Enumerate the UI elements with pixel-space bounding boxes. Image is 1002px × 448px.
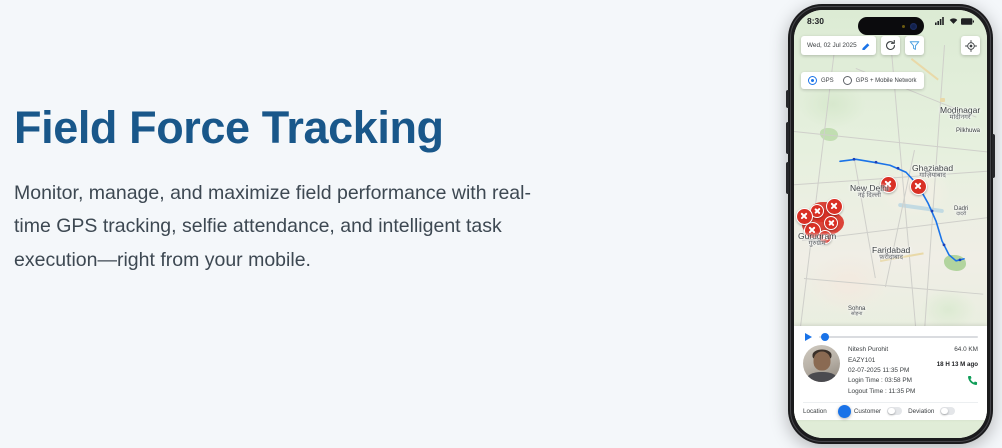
map-label-faridabad: Faridabad फ़रीदाबाद <box>872 246 910 262</box>
date-picker[interactable]: Wed, 02 Jul 2025 <box>801 36 876 55</box>
radio-option-gps[interactable]: GPS <box>808 76 834 85</box>
map-road <box>800 50 835 328</box>
toggle-label-customer: Customer <box>854 408 881 415</box>
radio-gps-mobile-icon[interactable] <box>843 76 852 85</box>
refresh-button[interactable] <box>881 36 900 55</box>
radio-option-gps-mobile-network[interactable]: GPS + Mobile Network <box>843 76 917 85</box>
distance-value: 64.0 KM <box>954 346 978 353</box>
front-camera-icon <box>910 23 917 30</box>
phone-mute-switch <box>786 90 789 108</box>
pencil-icon[interactable] <box>862 42 870 50</box>
battery-icon <box>961 18 974 25</box>
toggle-deviation-thumb <box>941 408 948 415</box>
avatar-body <box>807 372 837 382</box>
signal-bars-icon <box>935 17 945 25</box>
toggle-location-thumb <box>838 405 851 418</box>
refresh-icon <box>885 40 896 51</box>
play-icon[interactable] <box>805 333 812 341</box>
map-layer-toggles: Location Customer Deviation <box>803 402 978 420</box>
hero-description: Monitor, manage, and maximize field perf… <box>14 177 562 278</box>
map-label-dadri: Dadri दादरी <box>954 206 968 218</box>
map-highway-shield <box>940 98 945 102</box>
sensor-dot-icon <box>902 25 905 28</box>
status-bar-icons <box>935 17 974 25</box>
phone-volume-up-button <box>786 122 789 154</box>
map-green-area <box>944 255 966 271</box>
page-title: Field Force Tracking <box>14 104 574 153</box>
map-marker[interactable] <box>796 208 813 225</box>
toggle-location[interactable] <box>833 407 848 415</box>
playback-slider-handle[interactable] <box>821 333 829 341</box>
map-marker[interactable] <box>910 178 927 195</box>
map-label-sohna: Sohna सोहना <box>848 306 865 318</box>
phone-volume-down-button <box>786 162 789 194</box>
last-seen-value: 18 H 13 M ago <box>937 361 978 368</box>
map-label-new-delhi: New Delhi नई दिल्ली <box>850 184 889 200</box>
phone-icon <box>967 375 978 386</box>
toggle-label-location: Location <box>803 408 827 415</box>
phone-frame: New Delhi नई दिल्ली Ghaziabad गाज़ियाबाद… <box>788 4 993 444</box>
employee-login-time: Login Time : 03:58 PM <box>848 376 929 386</box>
map-marker[interactable] <box>824 216 838 230</box>
toggle-customer[interactable] <box>887 407 902 415</box>
employee-timestamp: 02-07-2025 11:35 PM <box>848 366 929 376</box>
map-label-pilkhuwa: Pilkhuwa <box>956 128 980 134</box>
map-label-ghaziabad: Ghaziabad गाज़ियाबाद <box>912 164 953 180</box>
wifi-icon <box>949 17 958 25</box>
status-bar-time: 8:30 <box>807 16 824 26</box>
hero-copy: Field Force Tracking Monitor, manage, an… <box>14 104 574 277</box>
date-value: Wed, 02 Jul 2025 <box>807 42 857 49</box>
employee-code: EAZY101 <box>848 356 929 366</box>
toggle-customer-thumb <box>888 408 895 415</box>
map-road <box>804 278 983 295</box>
gps-mode-selector[interactable]: GPS GPS + Mobile Network <box>801 72 924 89</box>
filter-icon <box>909 40 920 51</box>
playback-slider[interactable] <box>819 336 978 338</box>
employee-text-block: Nitesh Purohit EAZY101 02-07-2025 11:35 … <box>848 345 929 397</box>
filter-button[interactable] <box>905 36 924 55</box>
map-label-gurugram: Gurugram गुरुग्राम <box>798 232 836 248</box>
map-top-controls: Wed, 02 Jul 2025 <box>801 36 980 55</box>
employee-logout-time: Logout Time : 11:35 PM <box>848 387 929 397</box>
my-location-button[interactable] <box>961 36 980 55</box>
map-marker[interactable] <box>826 198 843 215</box>
avatar[interactable] <box>803 345 840 382</box>
phone-power-button <box>992 134 995 178</box>
call-button[interactable] <box>967 373 978 391</box>
avatar-face <box>813 351 830 370</box>
phone-screen: New Delhi नई दिल्ली Ghaziabad गाज़ियाबाद… <box>794 10 987 438</box>
employee-name: Nitesh Purohit <box>848 345 929 355</box>
dynamic-island <box>858 17 924 35</box>
employee-info-panel: Nitesh Purohit EAZY101 02-07-2025 11:35 … <box>794 326 987 420</box>
phone-mockup: New Delhi नई दिल्ली Ghaziabad गाज़ियाबाद… <box>788 4 993 444</box>
employee-meta-block: 64.0 KM 18 H 13 M ago <box>937 345 978 397</box>
playback-controls <box>803 332 978 345</box>
map-label-modinagar: Modinagar मोदीनगर <box>940 106 980 122</box>
radio-gps-icon[interactable] <box>808 76 817 85</box>
toggle-deviation[interactable] <box>940 407 955 415</box>
crosshair-icon <box>965 40 977 52</box>
employee-details: Nitesh Purohit EAZY101 02-07-2025 11:35 … <box>803 345 978 402</box>
toggle-label-deviation: Deviation <box>908 408 934 415</box>
